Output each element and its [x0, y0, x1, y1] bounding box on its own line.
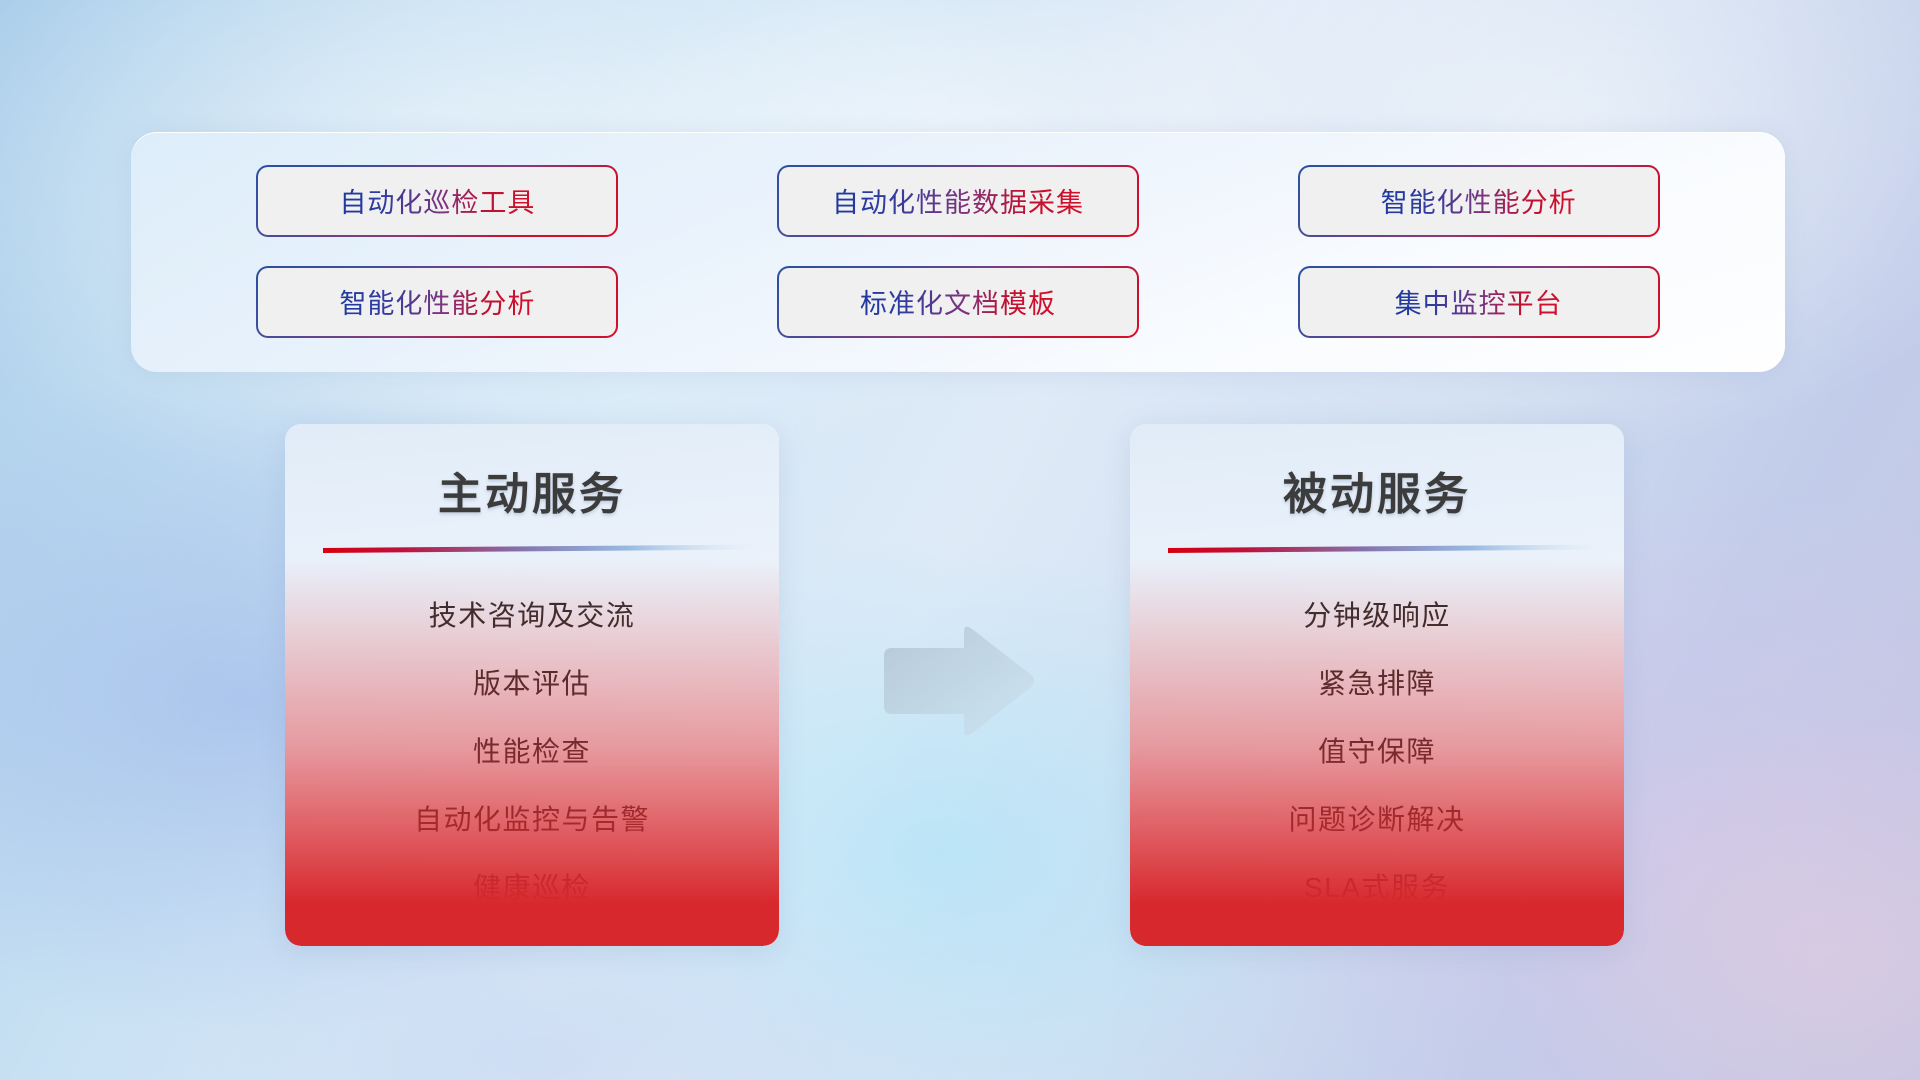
- capability-tag-label: 智能化性能分析: [1381, 181, 1577, 220]
- capability-tag-centralized-monitoring-platform[interactable]: 集中监控平台: [1300, 268, 1658, 336]
- service-card-proactive[interactable]: 主动服务 技术咨询及交流 版本评估 性能检查 自动化监控与告警 健康巡检: [285, 424, 779, 946]
- card-divider-gradient: [323, 544, 757, 553]
- capability-tag-label: 集中监控平台: [1395, 282, 1563, 321]
- card-list-item[interactable]: 自动化监控与告警: [414, 798, 650, 838]
- card-item-list: 分钟级响应 紧急排障 值守保障 问题诊断解决 SLA式服务: [1130, 580, 1624, 920]
- service-card-reactive[interactable]: 被动服务 分钟级响应 紧急排障 值守保障 问题诊断解决 SLA式服务: [1130, 424, 1624, 946]
- card-item-list: 技术咨询及交流 版本评估 性能检查 自动化监控与告警 健康巡检: [285, 580, 779, 920]
- capability-tag-label: 智能化性能分析: [339, 282, 535, 321]
- flow-arrow-right-icon: [878, 622, 1038, 740]
- card-list-item[interactable]: 紧急排障: [1318, 662, 1436, 702]
- card-title: 主动服务: [285, 458, 779, 522]
- capability-tag-label: 自动化巡检工具: [339, 181, 535, 220]
- capability-tag-label: 标准化文档模板: [860, 282, 1056, 321]
- capability-tag-automated-performance-collection[interactable]: 自动化性能数据采集: [779, 167, 1137, 235]
- capability-tag-grid: 自动化巡检工具 自动化性能数据采集 智能化性能分析 智能化性能分析 标准化文档模…: [131, 132, 1785, 372]
- capability-tag-automated-inspection-tool[interactable]: 自动化巡检工具: [258, 167, 616, 235]
- card-list-item[interactable]: 健康巡检: [473, 866, 591, 906]
- card-list-item[interactable]: 值守保障: [1318, 730, 1436, 770]
- card-list-item[interactable]: 性能检查: [473, 730, 591, 770]
- card-title: 被动服务: [1130, 458, 1624, 522]
- card-list-item[interactable]: 版本评估: [473, 662, 591, 702]
- card-list-item[interactable]: 问题诊断解决: [1288, 798, 1465, 838]
- capability-tag-standardized-doc-template[interactable]: 标准化文档模板: [779, 268, 1137, 336]
- card-list-item[interactable]: 技术咨询及交流: [429, 594, 636, 634]
- capability-tag-label: 自动化性能数据采集: [832, 181, 1084, 220]
- capability-tag-intelligent-performance-analysis-2[interactable]: 智能化性能分析: [258, 268, 616, 336]
- card-list-item[interactable]: 分钟级响应: [1303, 594, 1451, 634]
- card-list-item[interactable]: SLA式服务: [1304, 866, 1450, 906]
- card-divider-gradient: [1168, 544, 1602, 553]
- capability-tag-intelligent-performance-analysis-1[interactable]: 智能化性能分析: [1300, 167, 1658, 235]
- capability-panel: 自动化巡检工具 自动化性能数据采集 智能化性能分析 智能化性能分析 标准化文档模…: [131, 132, 1785, 372]
